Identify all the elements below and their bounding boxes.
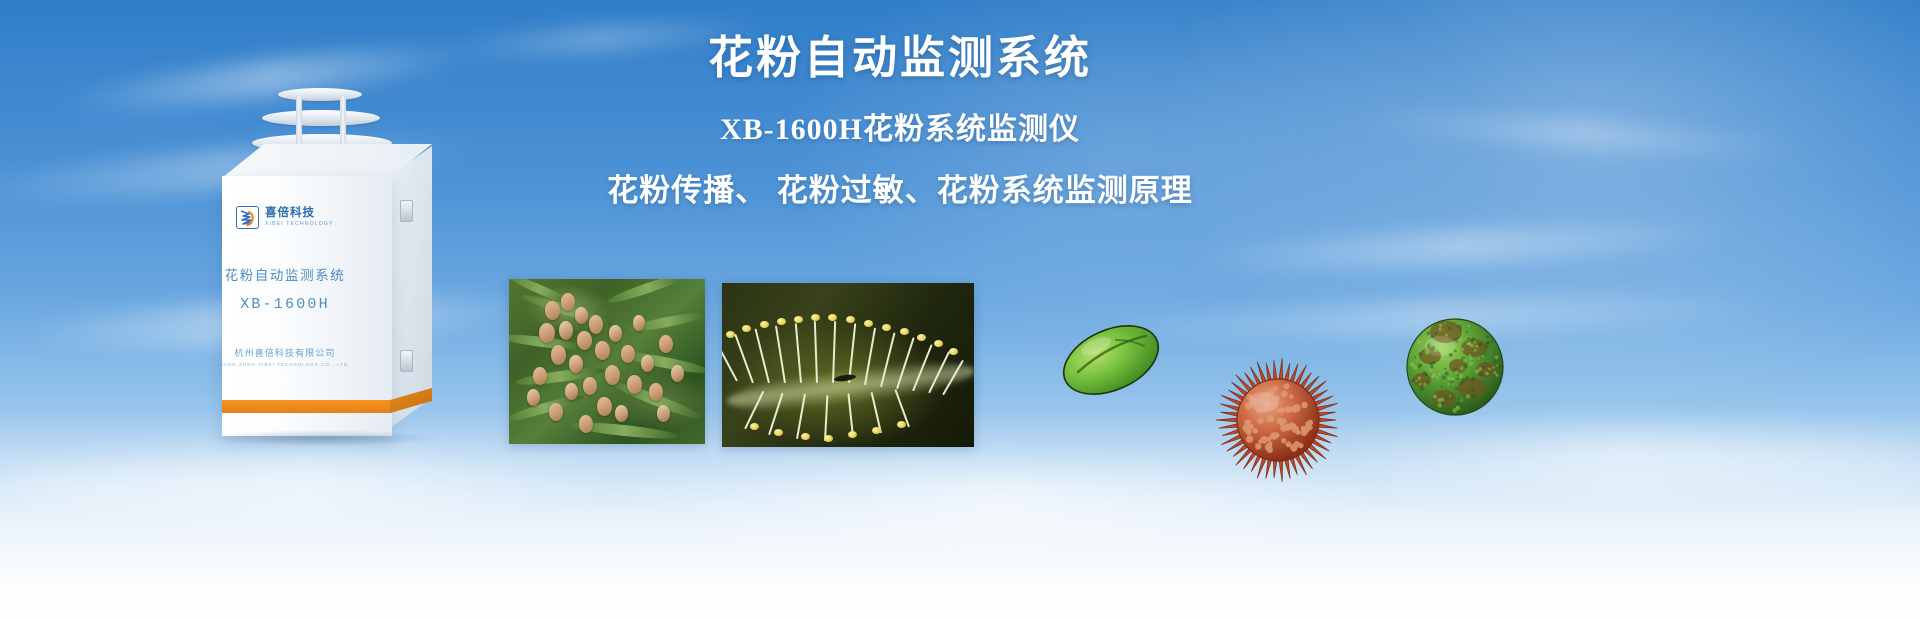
inlet-support-right — [340, 96, 346, 148]
green-brown-rough-grain-icon — [1400, 312, 1510, 422]
banner-tagline: 花粉传播、 花粉过敏、花粉系统监测原理 — [580, 171, 1220, 211]
device-model-number: XB-1600H — [200, 296, 370, 313]
device-brand-logo: 喜倍科技 XIBEI TECHNOLOGY — [236, 206, 334, 229]
inlet-rain-shield-middle — [262, 110, 380, 126]
inlet-support-left — [296, 96, 302, 148]
catkin-photo — [722, 283, 974, 447]
banner-title: 花粉自动监测系统 — [580, 30, 1220, 86]
device-company-en: HANG ZHOU XIBEI TECHNOLOGY CO., LTD. — [200, 362, 370, 367]
red-spiky-grain-icon — [1216, 358, 1340, 482]
headline-block: 花粉自动监测系统 XB-1600H花粉系统监测仪 花粉传播、 花粉过敏、花粉系统… — [580, 30, 1220, 212]
pollen-monitor-banner: 花粉自动监测系统 XB-1600H花粉系统监测仪 花粉传播、 花粉过敏、花粉系统… — [0, 0, 1920, 619]
device-side-face — [390, 146, 432, 428]
cloud-wisp-5 — [1350, 104, 1811, 164]
pollen-analyzer-device: 喜倍科技 XIBEI TECHNOLOGY 花粉自动监测系统 XB-1600H … — [200, 78, 480, 428]
inlet-rain-shield-top — [278, 88, 362, 101]
device-company-cn: 杭州喜倍科技有限公司 — [200, 346, 370, 359]
device-ground-shadow — [210, 430, 435, 446]
device-brand-cn: 喜倍科技 — [265, 208, 334, 220]
green-elongated-grain-icon — [1056, 312, 1166, 408]
device-brand-text: 喜倍科技 XIBEI TECHNOLOGY — [265, 208, 334, 228]
device-latch-bottom[interactable] — [400, 350, 413, 372]
banner-subtitle: XB-1600H花粉系统监测仪 — [580, 110, 1220, 149]
device-latch-top[interactable] — [400, 200, 413, 222]
device-company-block: 杭州喜倍科技有限公司 HANG ZHOU XIBEI TECHNOLOGY CO… — [200, 346, 370, 367]
device-brand-en: XIBEI TECHNOLOGY — [265, 222, 334, 227]
device-accent-stripe — [222, 400, 392, 413]
device-product-name: 花粉自动监测系统 — [200, 264, 370, 284]
cypress-cones-photo — [509, 279, 705, 444]
cloud-wisp-4 — [1179, 215, 1740, 278]
cloud-bank-left — [0, 455, 620, 519]
cloud-bank-right — [1300, 430, 1920, 492]
xibei-logo-icon — [236, 206, 259, 229]
